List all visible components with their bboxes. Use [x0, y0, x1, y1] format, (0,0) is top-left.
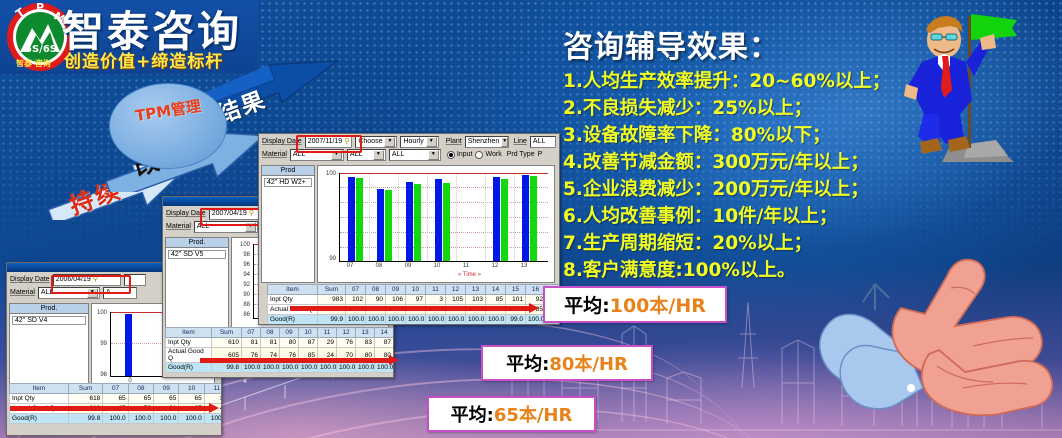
radio-work-dot: [475, 151, 483, 159]
table-col-4: 09: [154, 384, 179, 394]
cell-2-6: 100.0: [446, 315, 466, 325]
svg-text:P: P: [36, 2, 44, 14]
display-date-value: 2007/11/19: [308, 137, 343, 147]
cell-2-4: 100.0: [299, 363, 318, 373]
data-table-2007-04[interactable]: ItemSum070809101112131415161718192021222…: [165, 327, 394, 373]
businessman-with-flag-illustration: [872, 4, 1022, 164]
table-row[interactable]: Good(R)99.9100.0100.0100.0100.0100.0100.…: [268, 315, 561, 325]
material-combo-2-value: ALL: [350, 150, 362, 160]
chevron-down-icon[interactable]: ▼: [373, 150, 384, 160]
benefit-item-6: 6.人均改善事例：10件/年以上；: [563, 202, 963, 228]
table-col-3: 08: [366, 285, 386, 295]
plant-combo[interactable]: Shenzhen ▼: [465, 136, 509, 148]
table-row[interactable]: Inpt Qty618656565653365656565650: [10, 394, 223, 404]
period-combo[interactable]: Hourly ▼: [400, 136, 438, 148]
prd-type-value: P: [538, 151, 543, 158]
row-item-label: Good(R): [268, 315, 318, 325]
cell-0-0: 983: [318, 295, 346, 305]
cell-0-4: 65: [179, 394, 204, 404]
cell-2-2: 100.0: [128, 414, 153, 424]
display-date-field[interactable]: 2007/11/19 ⚲: [305, 136, 353, 148]
material-combo-1-value: ALL: [293, 150, 305, 160]
table-row[interactable]: Inpt Qty61081818087297683876: [166, 338, 395, 348]
data-table-wrap: ItemSum070809101112131415161718192021222…: [165, 327, 394, 373]
table-header-row: ItemSum070809101112131415161718192021222…: [166, 328, 395, 338]
table-col-5: 10: [179, 384, 204, 394]
prd-type-label: Prd Type: [507, 151, 535, 158]
trend-arrow-bottom: [10, 406, 210, 411]
product-list[interactable]: Prod. 42" SD V4: [9, 303, 89, 391]
cell-0-8: 87: [375, 338, 394, 348]
cell-0-7: 103: [466, 295, 486, 305]
cell-2-1: 100.0: [346, 315, 366, 325]
product-list[interactable]: Prod 42" HD W2+: [261, 165, 315, 283]
window-toolbar: Display Date 2007/11/19 ⚲ Choose ▼ Hourl…: [259, 134, 559, 163]
search-icon[interactable]: ⚲: [249, 209, 254, 219]
data-table-wrap: ItemSum0708091011121314151617 Inpt Qty98…: [267, 284, 560, 325]
cell-2-1: 100.0: [103, 414, 128, 424]
cell-0-8: 85: [486, 295, 506, 305]
material-combo-3-value: ALL: [392, 150, 404, 160]
table-col-6: 11: [204, 384, 222, 394]
cell-0-6: 105: [446, 295, 466, 305]
callout-avg-80-value: 80本/HR: [549, 350, 628, 376]
table-col-0: Item: [10, 384, 69, 394]
callout-avg-80: 平均: 80本/HR: [481, 345, 653, 381]
cell-0-1: 81: [242, 338, 261, 348]
table-row[interactable]: Good(R)99.8100.0100.0100.0100.0100.0100.…: [10, 414, 223, 424]
table-col-2: 07: [103, 384, 128, 394]
cell-0-3: 80: [280, 338, 299, 348]
slide-canvas: T P M 5S/6S 智泰 咨询 智泰咨询 创造价值+缔造标杆 持续 改善 结…: [0, 0, 1062, 438]
cell-2-6: 100.0: [337, 363, 356, 373]
table-col-0: Item: [268, 285, 318, 295]
table-header-row: ItemSum07080910111213141516171819: [10, 384, 223, 394]
radio-input[interactable]: Input: [447, 151, 473, 159]
display-date-label: Display Date: [166, 210, 206, 217]
radio-work-label: Work: [485, 151, 501, 158]
row-item-label: Good(R): [166, 363, 212, 373]
table-col-5: 10: [406, 285, 426, 295]
period-combo-value: Hourly: [403, 137, 423, 147]
chart-y-axis: 100 98 96 94 92 90 88 86: [232, 238, 252, 336]
choose-combo-value: Choose: [358, 137, 382, 147]
cell-0-9: 101: [506, 295, 526, 305]
benefit-item-5: 5.企业浪费减少：200万元/年以上；: [563, 175, 963, 201]
cell-2-0: 99.9: [318, 315, 346, 325]
cell-0-5: 3: [426, 295, 446, 305]
table-col-10: 15: [506, 285, 526, 295]
chart-plot-area: [339, 173, 548, 262]
window-body: Prod 42" HD W2+ 100 99: [259, 163, 559, 285]
material-combo-2[interactable]: A: [103, 287, 137, 299]
row-item-label: Inpt Qty: [10, 394, 69, 404]
display-date-label: Display Date: [262, 138, 302, 145]
material-label: Material: [10, 289, 35, 296]
table-col-7: 12: [337, 328, 356, 338]
line-label: Line: [514, 138, 527, 145]
material-combo-3[interactable]: ALL ▼: [389, 149, 441, 161]
cell-2-9: 99.0: [506, 315, 526, 325]
table-row[interactable]: Good(R)99.8100.0100.0100.0100.0100.0100.…: [166, 363, 395, 373]
callout-avg-80-key: 平均:: [506, 350, 549, 376]
cell-0-4: 87: [299, 338, 318, 348]
cell-0-3: 65: [154, 394, 179, 404]
benefit-item-7: 7.生产周期缩短：20%以上；: [563, 229, 963, 255]
cell-2-0: 99.8: [68, 414, 102, 424]
chart-y-axis: 100 99: [318, 166, 338, 282]
material-combo-2[interactable]: ALL ▼: [347, 149, 386, 161]
cell-0-2: 90: [366, 295, 386, 305]
data-table-2007-11[interactable]: ItemSum0708091011121314151617 Inpt Qty98…: [267, 284, 560, 325]
product-list-header: Prod.: [10, 304, 88, 314]
display-date-label: Display Date: [10, 276, 50, 283]
line-combo-value: ALL: [533, 137, 545, 147]
cell-2-7: 100.0: [356, 363, 375, 373]
product-list-item[interactable]: 42" SD V5: [168, 250, 226, 259]
svg-text:智泰 咨询: 智泰 咨询: [16, 58, 51, 68]
chart-x-axis-label: « Time »: [458, 272, 481, 278]
radio-input-dot: [447, 151, 455, 159]
cell-0-1: 102: [346, 295, 366, 305]
table-col-2: 07: [346, 285, 366, 295]
cell-0-4: 97: [406, 295, 426, 305]
table-col-9: 14: [375, 328, 394, 338]
table-body: Inpt Qty61081818087297683876Actual Good …: [166, 338, 395, 373]
cell-2-0: 99.8: [212, 363, 242, 373]
cell-2-4: 100.0: [179, 414, 204, 424]
cell-2-7: 100.0: [466, 315, 486, 325]
chart-panel: 100 99: [317, 165, 555, 283]
bar-input: [125, 314, 132, 376]
material-combo-1[interactable]: ALL ▼: [38, 287, 100, 299]
cell-0-1: 65: [103, 394, 128, 404]
cell-2-2: 100.0: [366, 315, 386, 325]
plant-label: Plant: [446, 138, 462, 145]
callout-avg-65: 平均: 65本/HR: [427, 396, 596, 432]
table-col-2: 07: [242, 328, 261, 338]
chevron-down-icon[interactable]: ▼: [87, 288, 98, 298]
table-col-3: 08: [261, 328, 280, 338]
material-combo-1[interactable]: ALL ▼: [194, 221, 258, 233]
callout-avg-100-value: 100本/HR: [610, 291, 706, 318]
chevron-down-icon[interactable]: ▼: [426, 137, 437, 147]
cell-0-0: 610: [212, 338, 242, 348]
chevron-down-icon[interactable]: ▼: [245, 222, 256, 232]
cell-2-4: 100.0: [406, 315, 426, 325]
table-col-6: 11: [426, 285, 446, 295]
display-date-value: 2007/04/19: [212, 209, 247, 219]
table-col-3: 08: [128, 384, 153, 394]
extra-field[interactable]: [124, 274, 146, 286]
line-combo[interactable]: ALL: [530, 136, 556, 148]
cell-2-5: 100.0: [204, 414, 222, 424]
product-list-header: Prod: [262, 166, 314, 176]
cell-0-2: 81: [261, 338, 280, 348]
clapping-hands-illustration: [805, 258, 1055, 433]
table-col-9: 14: [486, 285, 506, 295]
cell-2-1: 100.0: [242, 363, 261, 373]
cell-0-0: 618: [68, 394, 102, 404]
cell-0-2: 65: [128, 394, 153, 404]
data-table-wrap: ItemSum07080910111213141516171819 Inpt Q…: [9, 383, 222, 424]
table-col-1: Sum: [68, 384, 102, 394]
cell-0-6: 76: [337, 338, 356, 348]
chevron-down-icon[interactable]: ▼: [384, 137, 395, 147]
row-item-label: Inpt Qty: [166, 338, 212, 348]
table-col-1: Sum: [318, 285, 346, 295]
table-header-row: ItemSum0708091011121314151617: [268, 285, 561, 295]
cell-0-3: 106: [386, 295, 406, 305]
radio-work[interactable]: Work: [475, 151, 501, 159]
cell-2-3: 100.0: [154, 414, 179, 424]
search-icon[interactable]: ⚲: [344, 137, 349, 147]
material-combo-1-value: ALL: [41, 288, 53, 298]
cell-0-5: 33: [204, 394, 222, 404]
table-col-7: 12: [446, 285, 466, 295]
product-list-item[interactable]: 42" SD V4: [12, 316, 86, 325]
radio-input-label: Input: [457, 151, 473, 158]
product-list[interactable]: Prod. 42" SD V5: [165, 237, 229, 337]
table-col-6: 11: [318, 328, 337, 338]
material-combo-1[interactable]: ALL ▼: [290, 149, 344, 161]
chevron-down-icon[interactable]: ▼: [501, 137, 508, 147]
material-combo-2-value: A: [106, 288, 111, 298]
cell-2-3: 100.0: [280, 363, 299, 373]
callout-avg-65-value: 65本/HR: [494, 401, 573, 427]
plant-combo-value: Shenzhen: [468, 137, 500, 147]
cell-2-3: 100.0: [386, 315, 406, 325]
table-col-8: 13: [466, 285, 486, 295]
callout-avg-65-key: 平均:: [451, 401, 494, 427]
table-col-4: 09: [280, 328, 299, 338]
cell-2-5: 100.0: [318, 363, 337, 373]
brand-tagline: 创造价值+缔造标杆: [64, 47, 223, 72]
table-col-5: 10: [299, 328, 318, 338]
data-table-2006[interactable]: ItemSum07080910111213141516171819 Inpt Q…: [9, 383, 222, 424]
display-date-value: 2006/04/19: [56, 275, 91, 285]
cell-2-5: 100.0: [426, 315, 446, 325]
callout-avg-100-key: 平均:: [564, 291, 610, 318]
display-date-field[interactable]: 2006/04/19 ⚲: [53, 274, 121, 286]
table-col-1: Sum: [212, 328, 242, 338]
table-col-8: 13: [356, 328, 375, 338]
table-col-10: 15: [394, 328, 395, 338]
app-window-2007-11[interactable]: Display Date 2007/11/19 ⚲ Choose ▼ Hourl…: [258, 133, 560, 325]
callout-avg-100: 平均: 100本/HR: [543, 286, 727, 323]
cell-0-9: 6: [394, 338, 395, 348]
chart-y-axis: 100 99 98: [92, 304, 109, 390]
material-combo-1-value: ALL: [197, 222, 209, 232]
search-icon[interactable]: ⚲: [93, 275, 98, 285]
row-item-label: Inpt Qty: [268, 295, 318, 305]
choose-combo[interactable]: Choose ▼: [355, 136, 397, 148]
row-item-label: Good(R): [10, 414, 69, 424]
material-label: Material: [166, 223, 191, 230]
cell-2-8: 100.0: [486, 315, 506, 325]
table-col-0: Item: [166, 328, 212, 338]
trend-arrow-top: [290, 306, 530, 311]
chevron-down-icon[interactable]: ▼: [428, 150, 439, 160]
svg-text:5S/6S: 5S/6S: [25, 44, 57, 55]
cell-0-7: 83: [356, 338, 375, 348]
product-list-item[interactable]: 42" HD W2+: [264, 178, 312, 187]
material-label: Material: [262, 151, 287, 158]
trend-arrow-middle: [200, 358, 390, 363]
chevron-down-icon[interactable]: ▼: [331, 150, 342, 160]
product-list-header: Prod.: [166, 238, 228, 248]
table-col-4: 09: [386, 285, 406, 295]
cell-0-5: 29: [318, 338, 337, 348]
cell-2-2: 100.0: [261, 363, 280, 373]
table-row[interactable]: Inpt Qty98310290106973105103851019297: [268, 295, 561, 305]
